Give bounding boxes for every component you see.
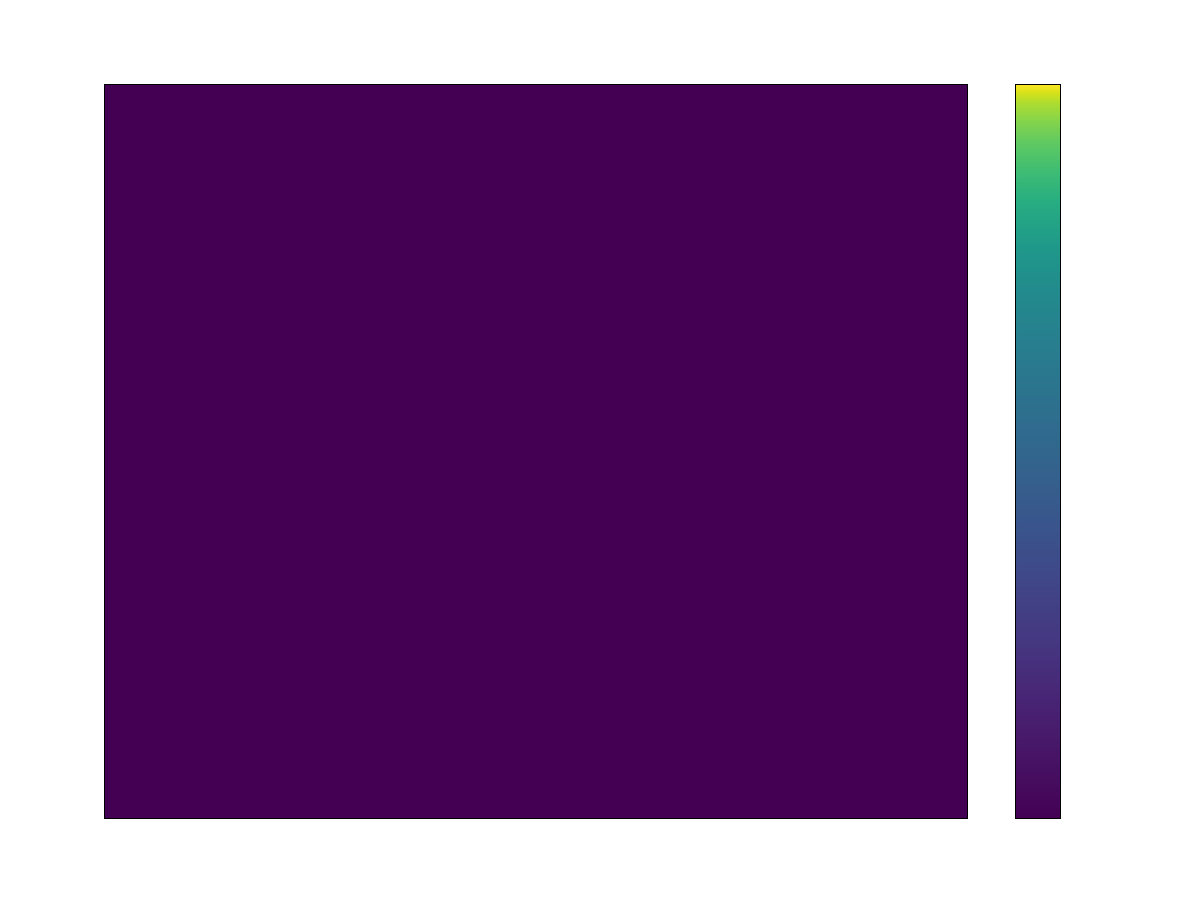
ionogram-heatmap bbox=[105, 85, 967, 818]
colorbar-gradient bbox=[1015, 84, 1061, 819]
ionogram-figure bbox=[0, 0, 1200, 900]
ionogram-plot-area[interactable] bbox=[104, 84, 968, 819]
